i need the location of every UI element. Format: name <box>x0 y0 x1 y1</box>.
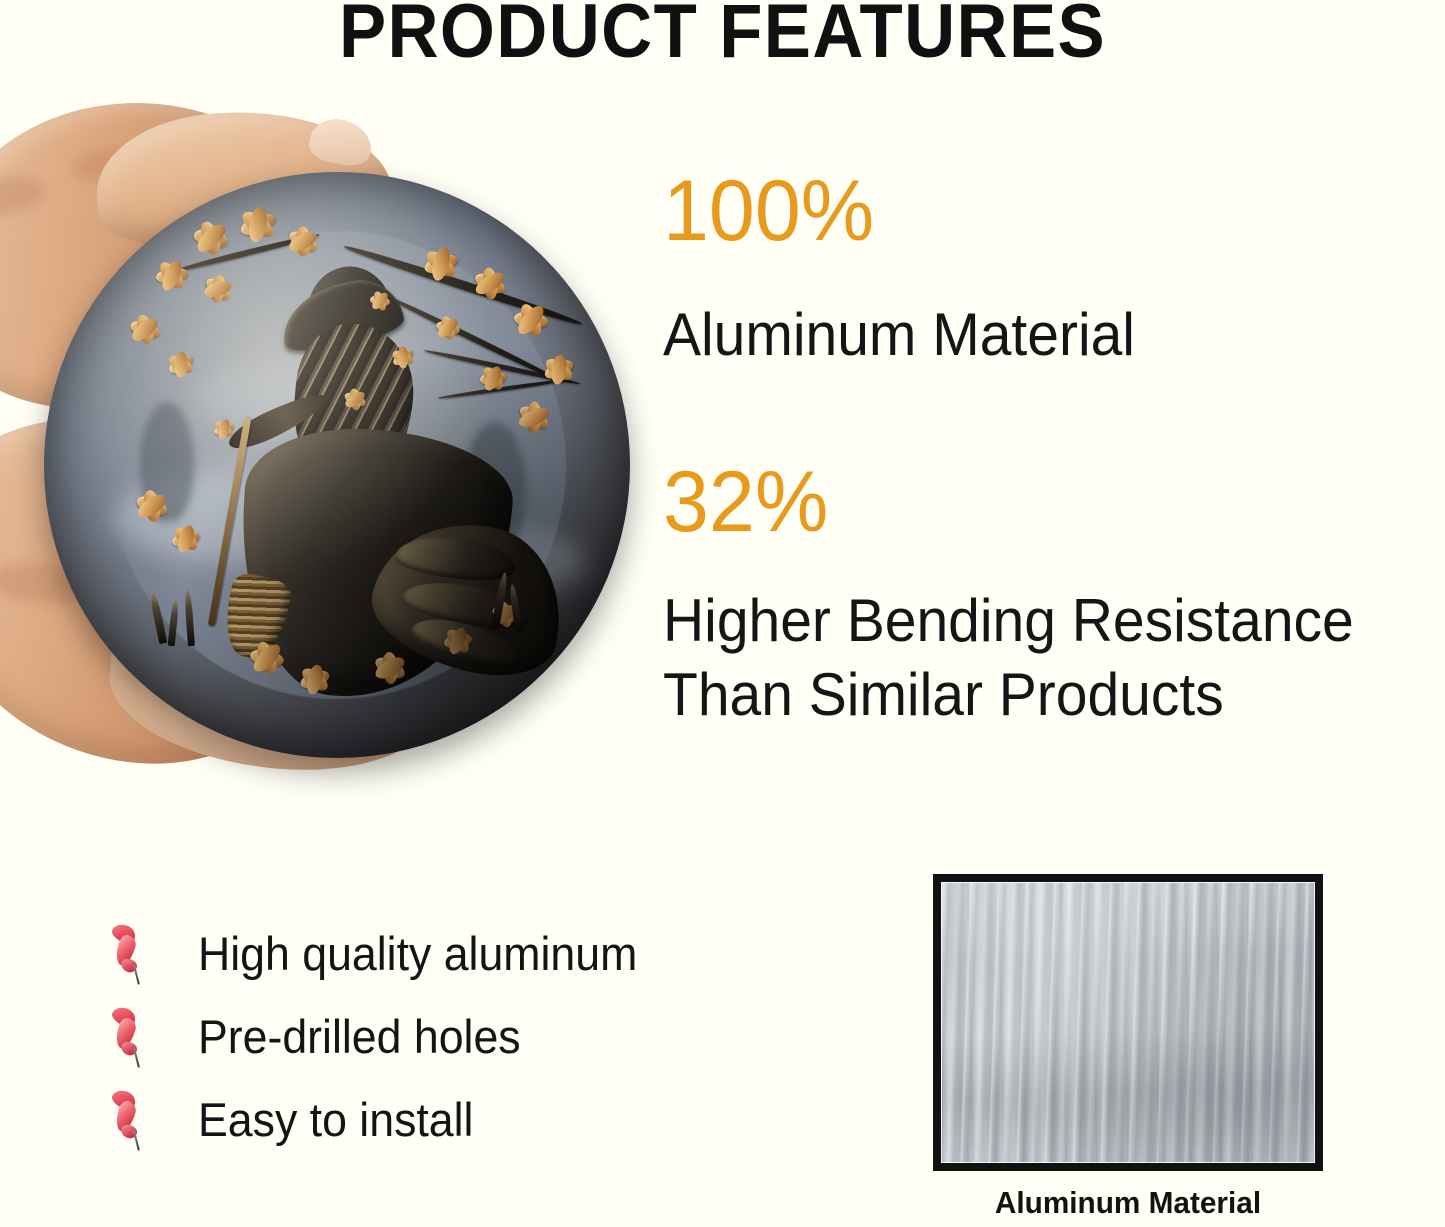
aluminum-sheen <box>941 882 1315 1163</box>
aluminum-swatch: Aluminum Material <box>933 874 1323 1221</box>
stat-value-aluminum: 100% <box>663 168 874 254</box>
knuckle-shadow <box>0 172 48 220</box>
pushpin-icon <box>108 1006 154 1068</box>
stat-label-aluminum: Aluminum Material <box>663 298 1135 372</box>
page-title: PRODUCT FEATURES <box>51 0 1395 70</box>
bullet-label: Pre-drilled holes <box>198 1011 521 1063</box>
plaque-carved-rim <box>44 172 630 758</box>
list-item: High quality aluminum <box>108 912 828 995</box>
stat-label-bending-line2: Than Similar Products <box>663 658 1354 732</box>
bullet-label: High quality aluminum <box>198 928 637 980</box>
feature-bullet-list: High quality aluminum Pre-drilled holes … <box>108 912 828 1161</box>
list-item: Pre-drilled holes <box>108 995 828 1078</box>
aluminum-swatch-caption: Aluminum Material <box>941 1185 1315 1221</box>
stat-label-bending-line1: Higher Bending Resistance <box>663 584 1354 658</box>
product-features-infographic: PRODUCT FEATURES <box>0 0 1445 1227</box>
stat-label-bending: Higher Bending Resistance Than Similar P… <box>663 584 1354 732</box>
list-item: Easy to install <box>108 1078 828 1161</box>
pushpin-icon <box>108 923 154 985</box>
product-photo <box>0 96 640 786</box>
aluminum-swatch-frame <box>933 874 1323 1171</box>
bullet-label: Easy to install <box>198 1094 473 1146</box>
stat-value-bending: 32% <box>663 459 828 545</box>
pushpin-icon <box>108 1089 154 1151</box>
round-witch-plaque <box>44 172 630 758</box>
